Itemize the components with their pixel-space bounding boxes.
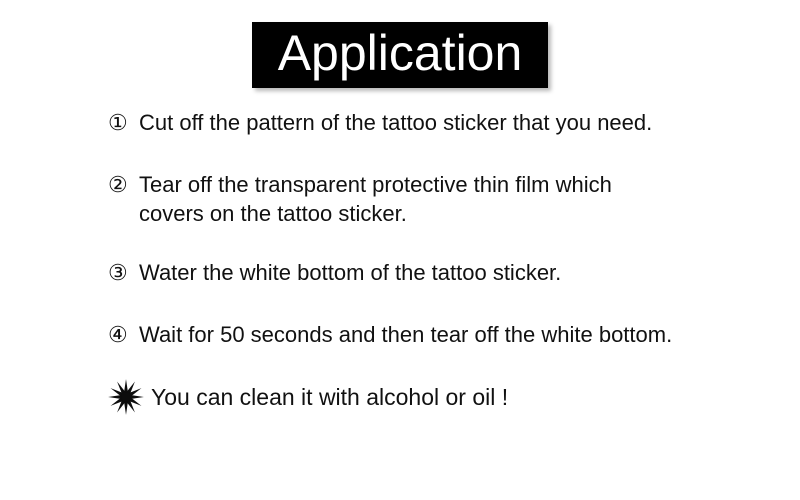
page-title: Application — [252, 22, 549, 88]
instruction-step-1-text: Cut off the pattern of the tattoo sticke… — [139, 108, 768, 137]
instruction-step-3-text: Water the white bottom of the tattoo sti… — [139, 258, 768, 287]
instruction-step-1: ① Cut off the pattern of the tattoo stic… — [108, 108, 768, 137]
cleaning-note: You can clean it with alcohol or oil ! — [108, 382, 768, 412]
page-title-container: Application — [0, 22, 800, 88]
instruction-step-4-text: Wait for 50 seconds and then tear off th… — [139, 320, 768, 349]
instruction-step-3: ③ Water the white bottom of the tattoo s… — [108, 258, 768, 287]
instruction-step-4: ④ Wait for 50 seconds and then tear off … — [108, 320, 768, 349]
instruction-step-2: ② Tear off the transparent protective th… — [108, 170, 768, 228]
instruction-step-list: ① Cut off the pattern of the tattoo stic… — [108, 108, 768, 412]
instruction-step-2-text: Tear off the transparent protective thin… — [139, 170, 768, 199]
circled-four-icon: ④ — [108, 320, 128, 349]
application-instructions-page: Application ① Cut off the pattern of the… — [0, 0, 800, 500]
cleaning-note-text: You can clean it with alcohol or oil ! — [151, 384, 508, 410]
circled-three-icon: ③ — [108, 258, 128, 287]
instruction-step-2-text-continued: covers on the tattoo sticker. — [139, 201, 407, 226]
twelve-point-star-icon — [107, 378, 145, 416]
circled-one-icon: ① — [108, 108, 128, 137]
circled-two-icon: ② — [108, 170, 128, 199]
